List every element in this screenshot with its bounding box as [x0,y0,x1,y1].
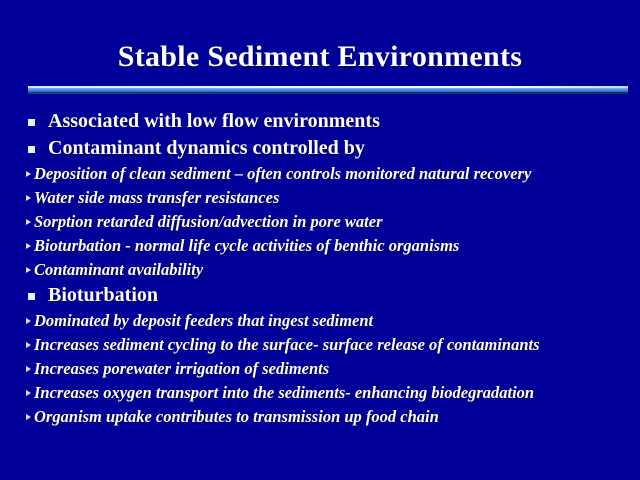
square-bullet-icon [28,146,35,153]
bullet-item-level-2: Contaminant availability [0,258,640,282]
triangle-bullet-icon [26,219,31,225]
bullet-item-label: Increases oxygen transport into the sedi… [34,383,534,402]
triangle-bullet-icon [26,267,31,273]
bullet-item-label: Increases sediment cycling to the surfac… [34,335,540,354]
bullet-item-label: Increases porewater irrigation of sedime… [34,359,329,378]
bullet-item-label: Water side mass transfer resistances [34,188,279,207]
bullet-item-level-2: Bioturbation - normal life cycle activit… [0,234,640,258]
bullet-item-level-2: Increases sediment cycling to the surfac… [0,333,640,357]
bullet-item-label: Bioturbation - normal life cycle activit… [34,236,459,255]
bullet-item-label: Associated with low flow environments [48,110,380,132]
bullet-item-level-2: Organism uptake contributes to transmiss… [0,405,640,429]
divider-shadow [28,92,628,94]
bullet-item-label: Contaminant dynamics controlled by [48,137,365,159]
square-bullet-icon [28,119,35,126]
title-divider-bar [28,86,628,94]
triangle-bullet-icon [26,243,31,249]
presentation-slide: Stable Sediment Environments Associated … [0,0,640,480]
bullet-item-label: Bioturbation [48,284,158,306]
bullet-item-label: Dominated by deposit feeders that ingest… [34,311,373,330]
square-bullet-icon [28,293,35,300]
bullet-item-level-2: Dominated by deposit feeders that ingest… [0,309,640,333]
triangle-bullet-icon [26,318,31,324]
bullet-item-level-2: Water side mass transfer resistances [0,186,640,210]
triangle-bullet-icon [26,414,31,420]
page-title: Stable Sediment Environments [118,40,523,74]
slide-body-bullet-list: Associated with low flow environmentsCon… [0,108,640,429]
bullet-item-level-2: Increases porewater irrigation of sedime… [0,357,640,381]
bullet-item-label: Sorption retarded diffusion/advection in… [34,212,383,231]
bullet-item-label: Deposition of clean sediment – often con… [34,164,531,183]
triangle-bullet-icon [26,390,31,396]
bullet-item-label: Contaminant availability [34,260,203,279]
bullet-item-level-2: Increases oxygen transport into the sedi… [0,381,640,405]
triangle-bullet-icon [26,342,31,348]
bullet-item-label: Organism uptake contributes to transmiss… [34,407,439,426]
bullet-item-level-1: Bioturbation [0,282,640,309]
triangle-bullet-icon [26,171,31,177]
triangle-bullet-icon [26,366,31,372]
bullet-item-level-2: Deposition of clean sediment – often con… [0,162,640,186]
triangle-bullet-icon [26,195,31,201]
bullet-item-level-1: Associated with low flow environments [0,108,640,135]
bullet-item-level-2: Sorption retarded diffusion/advection in… [0,210,640,234]
bullet-item-level-1: Contaminant dynamics controlled by [0,135,640,162]
slide-title-area: Stable Sediment Environments [0,40,640,74]
